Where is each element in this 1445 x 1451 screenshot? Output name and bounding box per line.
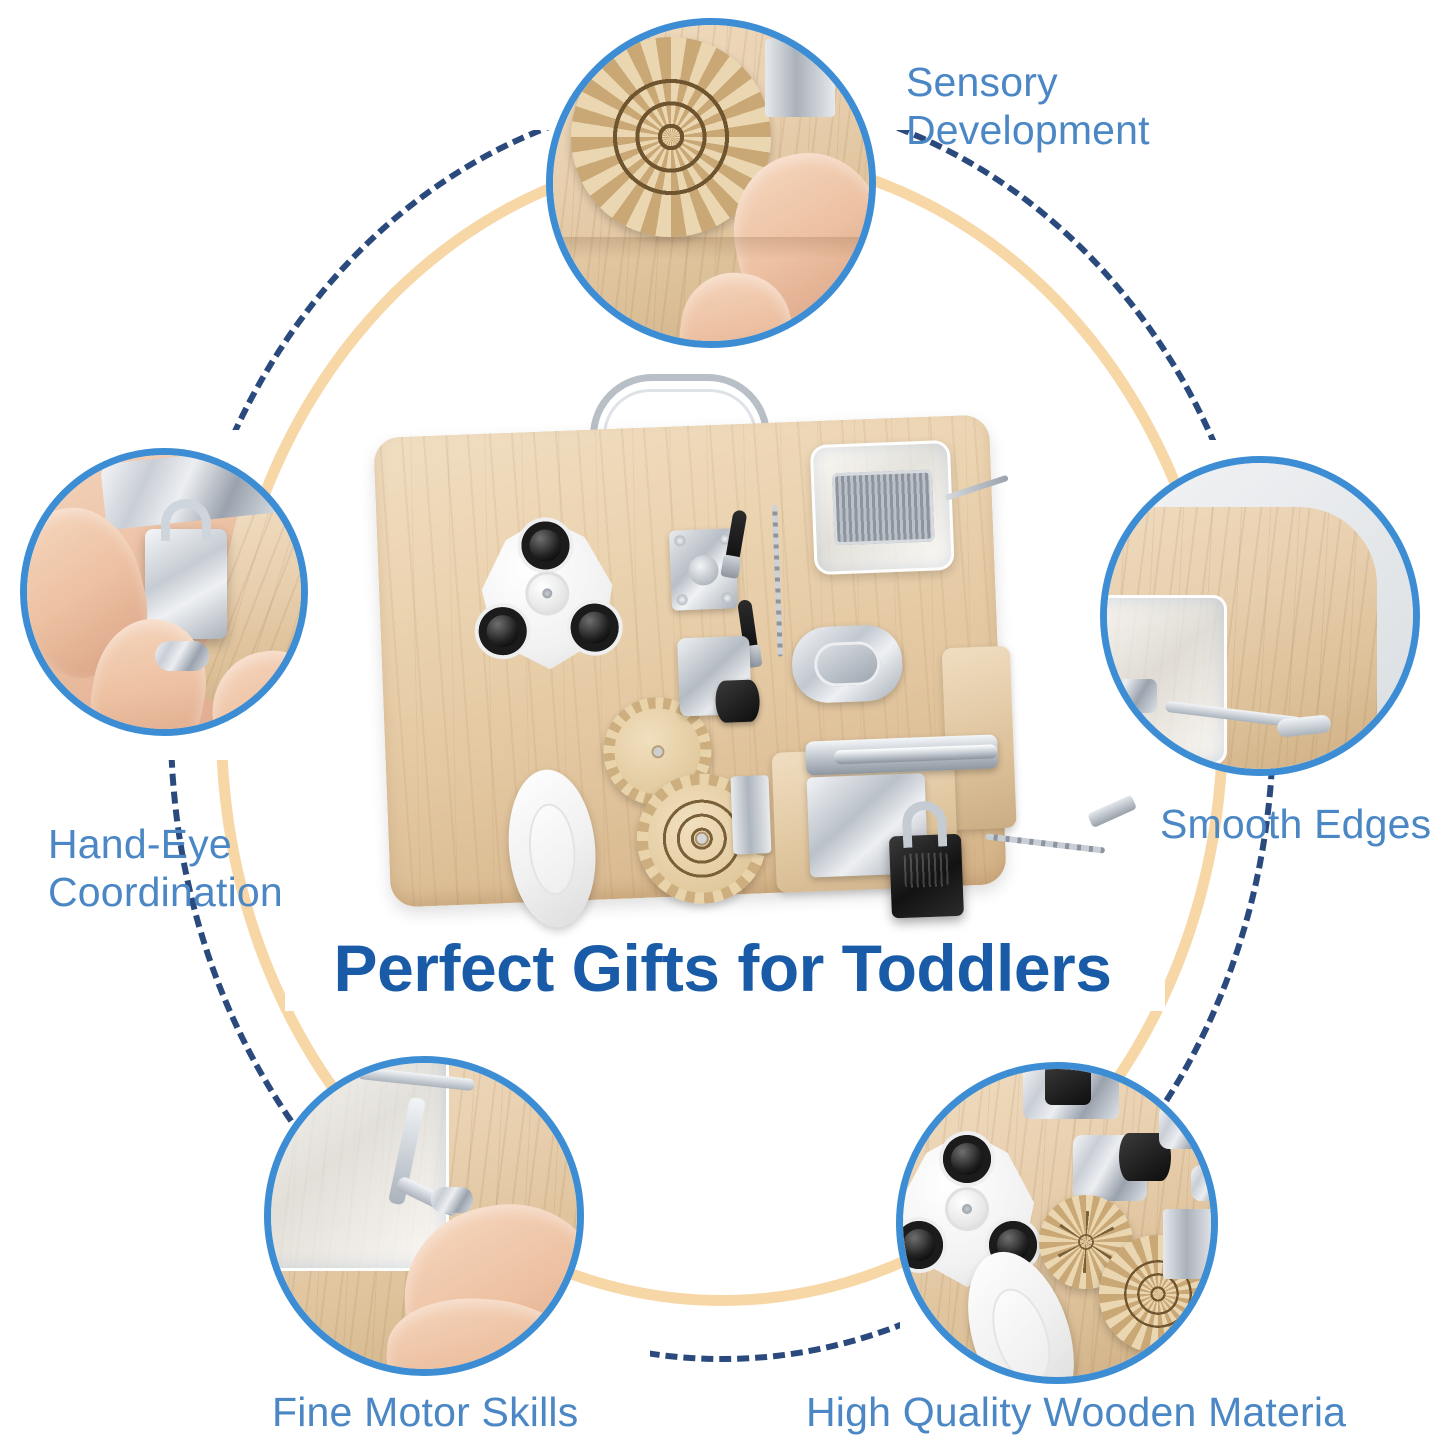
- toggle-latch: [791, 624, 904, 704]
- feature-photo-sensory-development: [546, 18, 876, 348]
- product-photo-busy-board: [372, 372, 1012, 917]
- feature-label-fine-motor-skills: Fine Motor Skills: [272, 1388, 672, 1436]
- caster-wheel: [677, 636, 752, 717]
- rocker-switch: [502, 766, 602, 931]
- feature-label-smooth-edges: Smooth Edges: [1160, 800, 1445, 848]
- feature-label-high-quality-wooden-material: High Quality Wooden Materia: [806, 1388, 1445, 1436]
- key-chain: [772, 505, 783, 657]
- loose-key: [1087, 795, 1137, 828]
- music-box-crank: [944, 475, 1009, 501]
- feature-label-hand-eye-coordination: Hand-Eye Coordination: [48, 820, 378, 917]
- hinge: [730, 775, 771, 854]
- page-title: Perfect Gifts for Toddlers: [0, 930, 1445, 1006]
- wooden-board: [373, 414, 1007, 907]
- feature-photo-smooth-edges: [1100, 456, 1420, 776]
- key-upper: [725, 509, 748, 563]
- feature-photo-hand-eye-coordination: [20, 448, 308, 736]
- black-padlock: [889, 834, 964, 919]
- feature-photo-fine-motor-skills: [264, 1056, 584, 1376]
- music-box: [810, 440, 955, 575]
- feature-label-sensory-development: Sensory Development: [906, 58, 1236, 155]
- infographic-canvas: Sensory Development Hand-Eye Coordinatio…: [0, 0, 1445, 1451]
- padlock-chain: [985, 833, 1105, 853]
- feature-photo-high-quality-wooden-material: [896, 1062, 1218, 1384]
- fidget-spinner: [468, 515, 626, 673]
